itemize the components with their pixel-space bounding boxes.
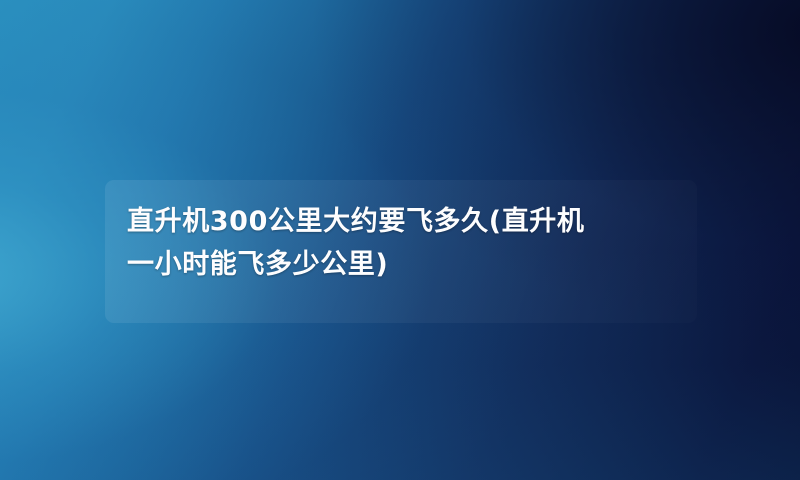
- text-overlay-panel: 直升机300公里大约要飞多久(直升机 一小时能飞多少公里): [105, 180, 697, 323]
- banner-headline: 直升机300公里大约要飞多久(直升机 一小时能飞多少公里): [127, 200, 675, 286]
- banner-image: 直升机300公里大约要飞多久(直升机 一小时能飞多少公里): [0, 0, 800, 480]
